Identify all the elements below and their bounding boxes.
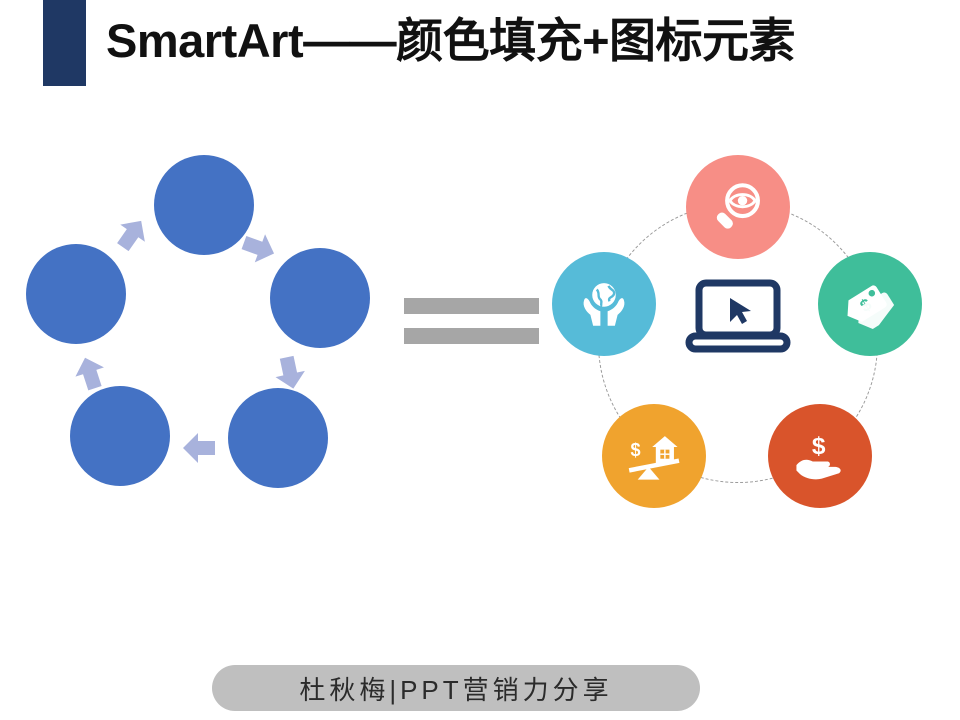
cycle-node-top[interactable] bbox=[154, 155, 254, 255]
footer-caption-text: 杜秋梅|PPT营销力分享 bbox=[299, 670, 612, 707]
icon-node-research[interactable] bbox=[686, 155, 790, 259]
equals-bar-bottom bbox=[404, 328, 539, 344]
cycle-node-bottom-left[interactable] bbox=[70, 386, 170, 486]
hand-dollar-icon: $ bbox=[791, 427, 849, 485]
svg-text:$: $ bbox=[630, 440, 640, 460]
laptop-cursor-icon bbox=[682, 275, 794, 357]
hands-globe-icon bbox=[575, 275, 633, 333]
cycle-node-left[interactable] bbox=[26, 244, 126, 344]
cycle-node-bottom-right[interactable] bbox=[228, 388, 328, 488]
price-tag-dollar-icon: $ bbox=[841, 275, 899, 333]
svg-text:$: $ bbox=[812, 433, 826, 460]
left-cycle-diagram bbox=[8, 150, 388, 490]
footer-caption-pill: 杜秋梅|PPT营销力分享 bbox=[212, 665, 700, 711]
title-accent-bar bbox=[43, 0, 86, 86]
cycle-arrow-right-to-bottom-right bbox=[269, 352, 312, 395]
cycle-arrow-bottom-right-to-bottom-left bbox=[181, 430, 217, 466]
equals-symbol bbox=[404, 298, 539, 344]
icon-node-investment[interactable]: $ bbox=[768, 404, 872, 508]
scale-house-dollar-icon: $ bbox=[625, 427, 683, 485]
right-icon-cycle-diagram: $ $ $ bbox=[540, 150, 952, 540]
icon-node-valuation[interactable]: $ bbox=[602, 404, 706, 508]
cycle-node-right[interactable] bbox=[270, 248, 370, 348]
equals-bar-top bbox=[404, 298, 539, 314]
page-title: SmartArt——颜色填充+图标元素 bbox=[106, 8, 795, 74]
magnifier-eye-icon bbox=[709, 178, 767, 236]
cycle-arrow-left-to-top bbox=[107, 209, 157, 259]
icon-node-pricing[interactable]: $ bbox=[818, 252, 922, 356]
icon-node-global[interactable] bbox=[552, 252, 656, 356]
